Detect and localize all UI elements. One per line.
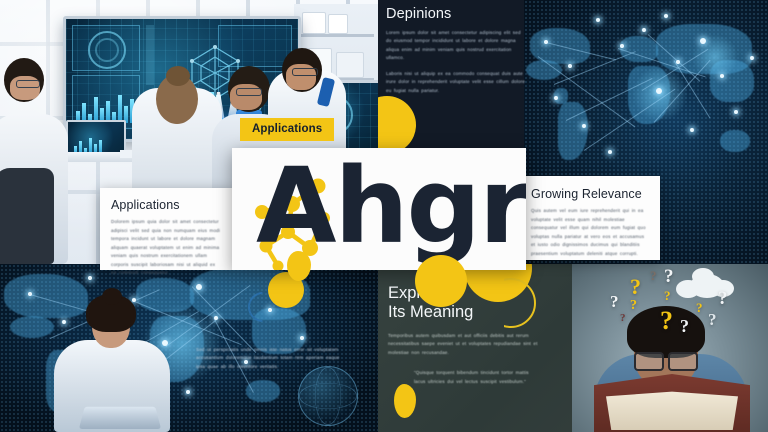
tag-applications[interactable]: Applications [240,118,334,141]
question-mark-icon: ? [630,274,641,300]
depinions-paragraph-1: Lorem ipsum dolor sit amet consectetur a… [386,29,526,63]
question-mark-icon: ? [708,310,717,330]
exploring-quote: "Quisque torquent bibendum tincidunt tor… [388,369,538,386]
reader-with-questions-photo: ? ? ? ? ? ? ? ? ? ? ? ? [572,264,768,432]
global-research-text-block: Sed ut perspiciatis unde omnis iste natu… [196,346,348,378]
card-applications-heading: Applications [111,198,222,212]
question-mark-icon: ? [660,306,673,336]
card-applications[interactable]: Applications Dolorem ipsum quia dolor si… [100,188,233,270]
infographic-canvas: Depinions Lorem ipsum dolor sit amet con… [0,0,768,432]
global-research-paragraph: Sed ut perspiciatis unde omnis iste natu… [196,346,348,371]
title-card: Ahgrl [232,148,526,270]
lab-chair [0,150,60,264]
exploring-heading-line-2: Its Meaning [388,303,473,321]
panel-global-research: Sed ut perspiciatis unde omnis iste natu… [0,264,378,432]
decor-yellow-circle-4 [415,255,467,307]
question-mark-icon: ? [696,300,703,316]
question-mark-icon: ? [650,268,657,284]
card-relevance-heading: Growing Relevance [531,187,648,201]
card-growing-relevance[interactable]: Growing Relevance Quis autem vel eum iur… [519,176,660,260]
card-relevance-paragraph: Quis autem vel eum iure reprehenderit qu… [531,207,648,258]
question-mark-icon: ? [718,288,728,310]
card-applications-paragraph: Dolorem ipsum quia dolor sit amet consec… [111,218,222,278]
scientist-with-laptop-photo [48,290,176,432]
question-mark-icon: ? [610,292,619,312]
question-mark-icon: ? [680,316,689,337]
title-word: Ahgrl [256,154,526,258]
exploring-paragraph: Temporibus autem quibusdam et aut offici… [388,332,538,357]
depinions-text-block: Depinions Lorem ipsum dolor sit amet con… [386,6,526,102]
question-mark-icon: ? [620,312,626,324]
depinions-heading: Depinions [386,6,526,22]
question-mark-icon: ? [630,298,637,314]
question-mark-icon: ? [664,266,674,288]
eyeglasses-icon [634,352,698,367]
depinions-paragraph-2: Laboris nisi ut aliquip ex ea commodo co… [386,70,526,95]
question-mark-icon: ? [664,288,671,304]
